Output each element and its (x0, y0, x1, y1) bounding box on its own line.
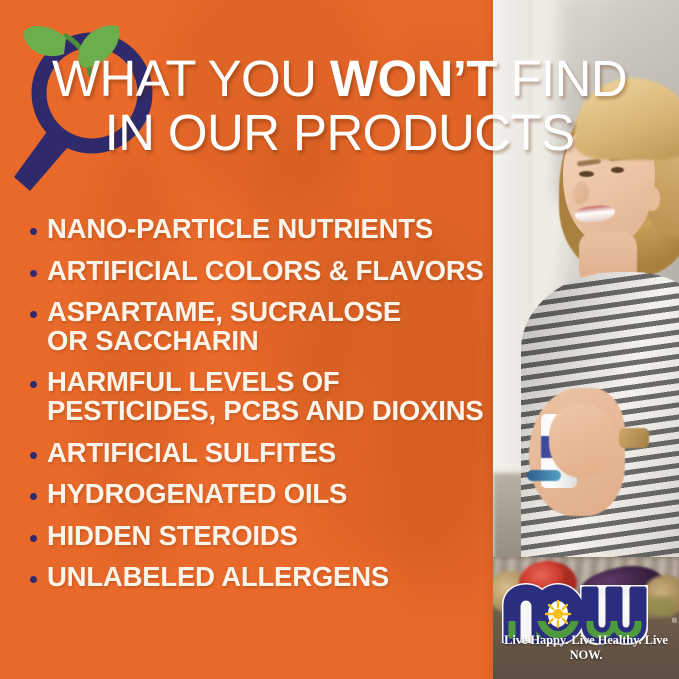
bullet-dot-icon (30, 493, 37, 500)
bullet-dot-icon (30, 452, 37, 459)
bullet-dot-icon (30, 228, 37, 235)
bullet-dot-icon (30, 535, 37, 542)
photo-eye-right (611, 167, 624, 173)
list-item-label: UNLABELED ALLERGENS (47, 563, 389, 592)
photo-eye-left (579, 171, 594, 177)
photo-bracelet (527, 470, 561, 481)
list-item: ARTIFICIAL SULFITES (30, 439, 485, 468)
bullet-dot-icon (30, 381, 37, 388)
list-item-label: ASPARTAME, SUCRALOSEOR SACCHARIN (47, 298, 401, 355)
photo-ear (643, 186, 660, 211)
registered-trademark-icon: ® (672, 618, 677, 625)
bullet-dot-icon (30, 576, 37, 583)
photo-watch (619, 428, 649, 448)
list-item-label: HARMFUL LEVELS OFPESTICIDES, PCBS AND DI… (47, 368, 484, 425)
magnifying-glass-icon (8, 14, 176, 192)
brand-tagline: Live Happy. Live Healthy. Live NOW. (493, 633, 679, 663)
list-item-label: ARTIFICIAL COLORS & FLAVORS (47, 257, 484, 286)
exclusion-list: NANO-PARTICLE NUTRIENTS ARTIFICIAL COLOR… (30, 215, 485, 605)
bullet-dot-icon (30, 311, 37, 318)
list-item: UNLABELED ALLERGENS (30, 563, 485, 592)
list-item: ASPARTAME, SUCRALOSEOR SACCHARIN (30, 298, 485, 355)
list-item: HIDDEN STEROIDS (30, 522, 485, 551)
list-item: HYDROGENATED OILS (30, 480, 485, 509)
list-item-label: HYDROGENATED OILS (47, 480, 347, 509)
list-item: ARTIFICIAL COLORS & FLAVORS (30, 257, 485, 286)
list-item: NANO-PARTICLE NUTRIENTS (30, 215, 485, 244)
list-item-label: ARTIFICIAL SULFITES (47, 439, 336, 468)
list-item: HARMFUL LEVELS OFPESTICIDES, PCBS AND DI… (30, 368, 485, 425)
bullet-dot-icon (30, 270, 37, 277)
list-item-label: NANO-PARTICLE NUTRIENTS (47, 215, 433, 244)
list-item-label: HIDDEN STEROIDS (47, 522, 298, 551)
poster-canvas: WHAT YOU WON’T FIND IN OUR PRODUCTS NANO… (0, 0, 679, 679)
